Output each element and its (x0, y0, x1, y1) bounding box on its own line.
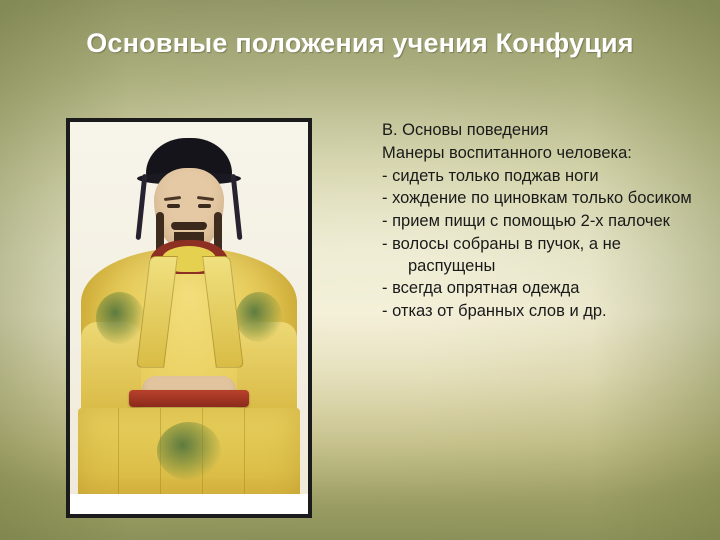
body-line: - хождение по циновкам только босиком (382, 188, 700, 210)
body-line: - волосы собраны в пучок, а не распущены (382, 234, 700, 278)
belt-shape (129, 390, 249, 407)
eye-right-shape (198, 204, 211, 208)
body-line: - всегда опрятная одежда (382, 278, 700, 300)
body-line: - сидеть только поджав ноги (382, 166, 700, 188)
dragon-embroidery-right (236, 292, 282, 342)
body-line: - отказ от бранных слов и др. (382, 301, 700, 323)
slide-body-text: B. Основы поведения Манеры воспитанного … (382, 120, 700, 324)
eye-left-shape (167, 204, 180, 208)
confucius-portrait-frame (66, 118, 312, 518)
body-line: B. Основы поведения (382, 120, 700, 142)
hat-tie-left-shape (136, 174, 148, 240)
hat-tie-right-shape (231, 174, 243, 240)
photo-floor-shape (70, 494, 308, 514)
confucius-portrait-image (70, 122, 308, 514)
eyebrow-left-shape (164, 196, 181, 201)
dragon-embroidery-left (96, 292, 144, 344)
body-line: - прием пищи с помощью 2-х палочек (382, 211, 700, 233)
moustache-shape (171, 222, 207, 230)
body-line: Манеры воспитанного человека: (382, 143, 700, 165)
dragon-embroidery-center (157, 422, 221, 480)
slide-title: Основные положения учения Конфуция (40, 26, 680, 61)
presentation-slide: Основные положения учения Конфуция (0, 0, 720, 540)
eyebrow-right-shape (197, 196, 214, 201)
